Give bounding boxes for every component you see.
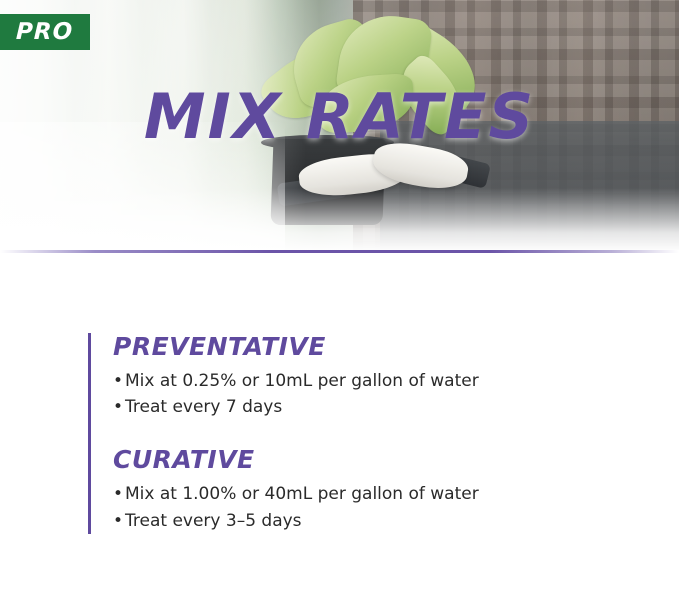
mix-rates-list: PREVENTATIVE •Mix at 0.25% or 10mL per g… bbox=[88, 333, 648, 534]
section-title-preventative: PREVENTATIVE bbox=[113, 333, 648, 362]
bullet-list-curative: •Mix at 1.00% or 40mL per gallon of wate… bbox=[113, 481, 648, 534]
list-item: •Mix at 1.00% or 40mL per gallon of wate… bbox=[113, 481, 648, 507]
mix-rates-infographic: PRO MIX RATES PREVENTATIVE •Mix at 0.25%… bbox=[0, 0, 679, 590]
bullet-icon: • bbox=[113, 368, 125, 394]
section-preventative: PREVENTATIVE •Mix at 0.25% or 10mL per g… bbox=[113, 333, 648, 420]
bullet-icon: • bbox=[113, 394, 125, 420]
list-item: •Mix at 0.25% or 10mL per gallon of wate… bbox=[113, 368, 648, 394]
list-item-text: Mix at 0.25% or 10mL per gallon of water bbox=[125, 371, 479, 391]
pro-badge-label: PRO bbox=[16, 21, 74, 44]
section-title-curative: CURATIVE bbox=[113, 446, 648, 475]
hero-divider bbox=[0, 250, 679, 253]
photo-bottom-fade bbox=[0, 188, 679, 252]
hero-banner: PRO MIX RATES bbox=[0, 0, 679, 252]
list-item-text: Treat every 3–5 days bbox=[125, 511, 302, 531]
page-title: MIX RATES bbox=[0, 86, 679, 148]
pro-badge: PRO bbox=[0, 14, 90, 50]
content-area: PREVENTATIVE •Mix at 0.25% or 10mL per g… bbox=[0, 253, 679, 590]
bullet-icon: • bbox=[113, 508, 125, 534]
list-item-text: Treat every 7 days bbox=[125, 397, 282, 417]
list-item: •Treat every 3–5 days bbox=[113, 508, 648, 534]
list-item: •Treat every 7 days bbox=[113, 394, 648, 420]
bullet-icon: • bbox=[113, 481, 125, 507]
bullet-list-preventative: •Mix at 0.25% or 10mL per gallon of wate… bbox=[113, 368, 648, 421]
section-curative: CURATIVE •Mix at 1.00% or 40mL per gallo… bbox=[113, 446, 648, 533]
list-item-text: Mix at 1.00% or 40mL per gallon of water bbox=[125, 484, 479, 504]
